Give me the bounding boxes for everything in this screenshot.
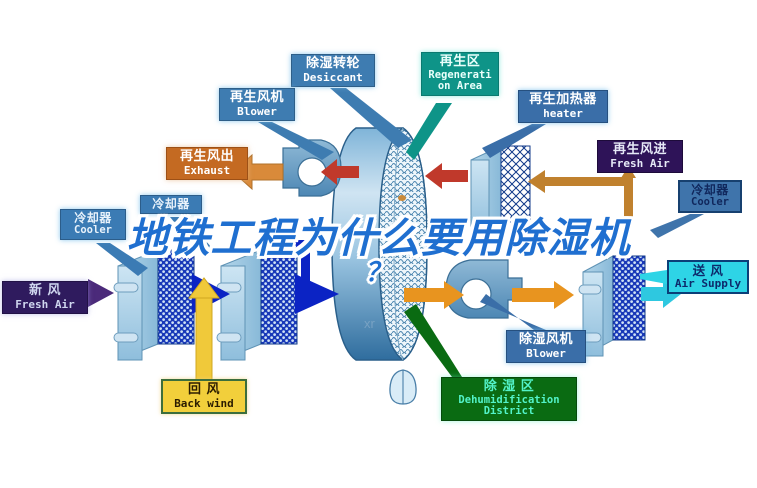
label-regen-fresh-air: 再生风进 Fresh Air <box>597 140 683 173</box>
label-regeneration-area: 再生区 Regenerati on Area <box>421 52 499 96</box>
label-back-wind: 回 风 Back wind <box>161 379 247 414</box>
label-regen-heater: 再生加热器 heater <box>518 90 608 123</box>
label-regen-blower: 再生风机 Blower <box>219 88 295 121</box>
label-dehumidification-blower: 除湿风机 Blower <box>506 330 586 363</box>
label-dehumidification-district: 除 湿 区 Dehumidification District <box>441 377 577 421</box>
label-cooler-right: 冷却器 Cooler <box>678 180 742 213</box>
condensate-drain <box>390 370 416 404</box>
overlay-title-line1: 地铁工程为什么要用除湿机 <box>0 214 757 262</box>
label-cooler-mid: 冷却器 <box>140 195 202 214</box>
regen-hot-arrow-2 <box>425 163 468 189</box>
overlay-title-line2: ？ <box>0 258 757 288</box>
regen-fresh-in-arrow <box>528 170 633 193</box>
label-desiccant-wheel: 除湿转轮 Desiccant <box>291 54 375 87</box>
watermark: xr <box>364 316 375 331</box>
diagram-canvas: xr 除湿转轮 Desiccant 再生风机 Blower 再生区 Regene… <box>0 0 757 488</box>
label-regen-exhaust: 再生风出 Exhaust <box>166 147 248 180</box>
